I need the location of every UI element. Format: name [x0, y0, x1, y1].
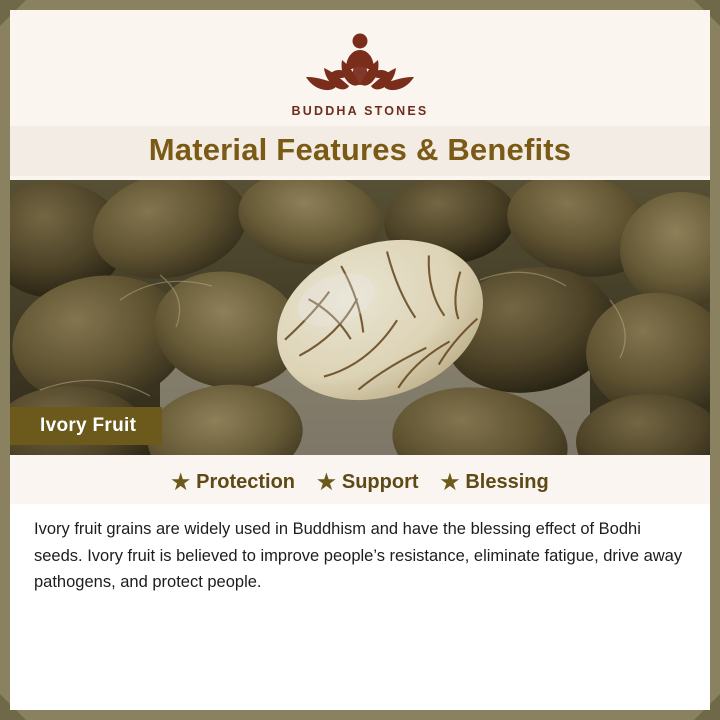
- benefit-label: Support: [342, 471, 419, 494]
- poster-content: BUDDHA STONES Material Features & Benefi…: [10, 10, 710, 710]
- material-label-tab: Ivory Fruit: [10, 407, 162, 445]
- lotus-meditation-icon: [10, 10, 710, 100]
- poster-header: BUDDHA STONES Material Features & Benefi…: [10, 10, 710, 180]
- page-title: Material Features & Benefits: [10, 132, 710, 168]
- star-icon: ★: [441, 472, 460, 493]
- benefit-blessing: ★ Blessing: [441, 471, 549, 494]
- poster-frame: BUDDHA STONES Material Features & Benefi…: [0, 0, 720, 720]
- brand-name: BUDDHA STONES: [10, 104, 710, 118]
- benefits-row: ★ Protection ★ Support ★ Blessing: [10, 455, 710, 504]
- benefit-protection: ★ Protection: [171, 471, 295, 494]
- benefit-label: Blessing: [465, 471, 548, 494]
- title-band: Material Features & Benefits: [10, 126, 710, 176]
- benefit-support: ★ Support: [317, 471, 418, 494]
- product-photo: Ivory Fruit: [10, 180, 710, 455]
- white-space-filler: [10, 614, 710, 710]
- star-icon: ★: [171, 472, 190, 493]
- benefit-label: Protection: [196, 471, 295, 494]
- star-icon: ★: [317, 472, 336, 493]
- description-text: Ivory fruit grains are widely used in Bu…: [10, 504, 710, 614]
